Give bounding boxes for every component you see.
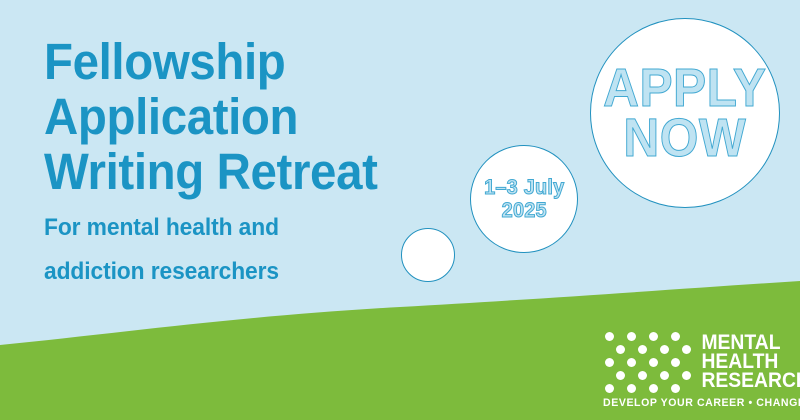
- promotional-banner: Fellowship Application Writing Retreat F…: [0, 0, 800, 420]
- subhead-line-1: For mental health and: [44, 199, 453, 243]
- headline-line-2: Application: [44, 89, 444, 144]
- apply-now-line-1: APPLY: [603, 63, 766, 113]
- decorative-circle: [401, 228, 455, 282]
- logo-tagline: DEVELOP YOUR CAREER • CHANGE LIVES: [603, 390, 781, 409]
- headline-line-1: Fellowship: [44, 34, 444, 89]
- apply-now-button[interactable]: APPLY NOW: [590, 18, 780, 208]
- apply-now-text: APPLY NOW: [603, 63, 766, 163]
- date-badge: 1–3 July 2025: [470, 145, 578, 253]
- apply-now-line-2: NOW: [603, 113, 766, 163]
- mental-health-research-logo: MENTAL HEALTH RESEARCH DEVELOP YOUR CARE…: [603, 332, 788, 410]
- subhead-line-2: addiction researchers: [44, 243, 453, 287]
- date-badge-line-2: 2025: [484, 199, 564, 222]
- logo-word-line-3: RESEARCH: [701, 371, 800, 390]
- logo-wordmark: MENTAL HEALTH RESEARCH: [695, 332, 800, 390]
- date-badge-text: 1–3 July 2025: [484, 176, 564, 222]
- date-badge-line-1: 1–3 July: [484, 176, 564, 199]
- dot-grid-icon: [603, 332, 695, 388]
- logo-main-row: MENTAL HEALTH RESEARCH: [603, 332, 788, 390]
- headline-line-3: Writing Retreat: [44, 144, 444, 199]
